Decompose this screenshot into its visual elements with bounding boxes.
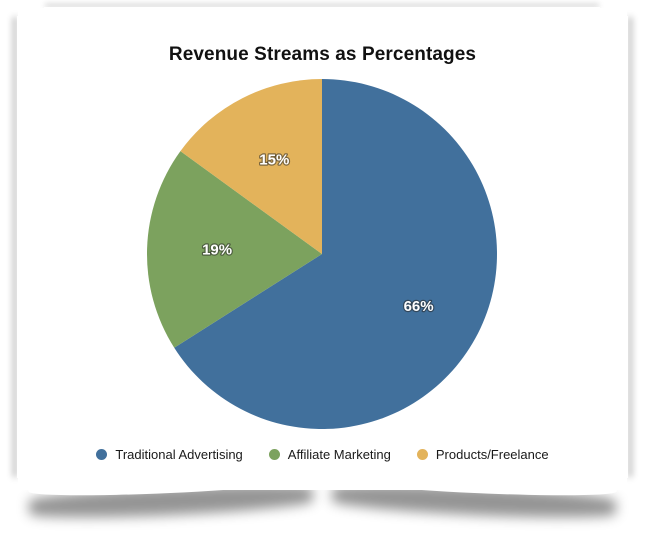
legend-item[interactable]: Affiliate Marketing xyxy=(269,448,391,461)
pie-slice-label: 19% xyxy=(202,242,232,259)
legend-circle-marker-icon xyxy=(96,449,107,460)
chart-title: Revenue Streams as Percentages xyxy=(18,44,627,66)
chart-legend: Traditional AdvertisingAffiliate Marketi… xyxy=(18,448,627,461)
pie-plot-area: 66%19%15% xyxy=(146,78,498,430)
legend-item-label: Products/Freelance xyxy=(436,448,549,461)
pie-slice-label: 66% xyxy=(404,298,434,315)
legend-item[interactable]: Products/Freelance xyxy=(417,448,549,461)
page-root: Revenue Streams as Percentages 66%19%15%… xyxy=(0,0,645,539)
pie-svg: 66%19%15% xyxy=(146,78,498,430)
pie-slice-label: 15% xyxy=(259,151,289,168)
paper-sheet: Revenue Streams as Percentages 66%19%15%… xyxy=(18,8,627,490)
legend-circle-marker-icon xyxy=(269,449,280,460)
pie-slice-group xyxy=(147,79,497,429)
legend-circle-marker-icon xyxy=(417,449,428,460)
pie-chart-figure: Revenue Streams as Percentages 66%19%15%… xyxy=(18,8,627,490)
legend-item-label: Traditional Advertising xyxy=(115,448,242,461)
legend-item[interactable]: Traditional Advertising xyxy=(96,448,242,461)
legend-item-label: Affiliate Marketing xyxy=(288,448,391,461)
